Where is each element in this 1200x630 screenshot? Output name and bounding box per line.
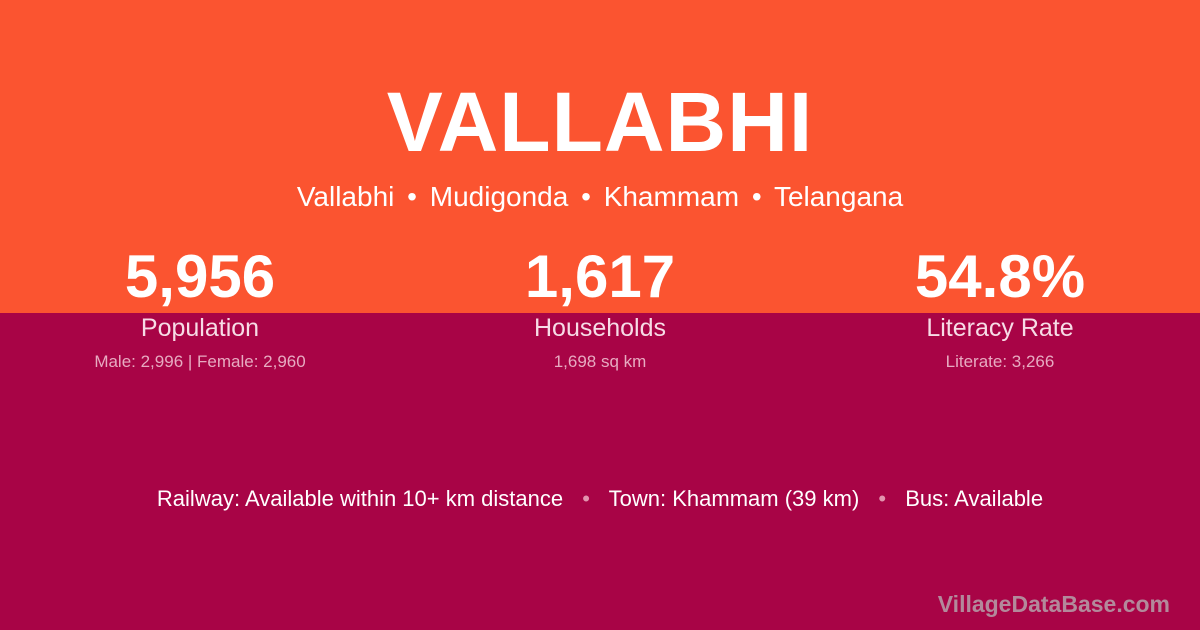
breadcrumb-item-village: Vallabhi: [297, 181, 395, 212]
stat-value: 54.8%: [800, 243, 1200, 311]
amenities-line: Railway: Available within 10+ km distanc…: [0, 484, 1200, 514]
stat-population: 5,956 Population Male: 2,996 | Female: 2…: [0, 243, 400, 372]
stat-label: Literacy Rate: [800, 313, 1200, 343]
amenity-separator: •: [569, 484, 603, 514]
stat-literacy-rate: 54.8% Literacy Rate Literate: 3,266: [800, 243, 1200, 372]
stat-sublabel: Literate: 3,266: [800, 351, 1200, 372]
breadcrumb-separator: •: [747, 181, 767, 212]
breadcrumb-separator: •: [576, 181, 596, 212]
breadcrumb: Vallabhi • Mudigonda • Khammam • Telanga…: [0, 164, 1200, 213]
stat-value: 5,956: [0, 243, 400, 311]
amenity-town: Town: Khammam (39 km): [609, 486, 860, 511]
village-info-card: VALLABHI Vallabhi • Mudigonda • Khammam …: [0, 0, 1200, 630]
page-title: VALLABHI: [0, 0, 1200, 164]
breadcrumb-item-state: Telangana: [774, 181, 903, 212]
stat-sublabel: Male: 2,996 | Female: 2,960: [0, 351, 400, 372]
stat-sublabel: 1,698 sq km: [400, 351, 800, 372]
breadcrumb-item-district: Khammam: [604, 181, 739, 212]
stat-label: Households: [400, 313, 800, 343]
stat-households: 1,617 Households 1,698 sq km: [400, 243, 800, 372]
amenity-railway: Railway: Available within 10+ km distanc…: [157, 486, 563, 511]
amenity-bus: Bus: Available: [905, 486, 1043, 511]
stat-label: Population: [0, 313, 400, 343]
site-watermark: VillageDataBase.com: [938, 590, 1170, 618]
stat-value: 1,617: [400, 243, 800, 311]
stats-row: 5,956 Population Male: 2,996 | Female: 2…: [0, 243, 1200, 372]
breadcrumb-separator: •: [402, 181, 422, 212]
breadcrumb-item-mandal: Mudigonda: [430, 181, 569, 212]
amenity-separator: •: [865, 484, 899, 514]
card-header: VALLABHI Vallabhi • Mudigonda • Khammam …: [0, 0, 1200, 213]
